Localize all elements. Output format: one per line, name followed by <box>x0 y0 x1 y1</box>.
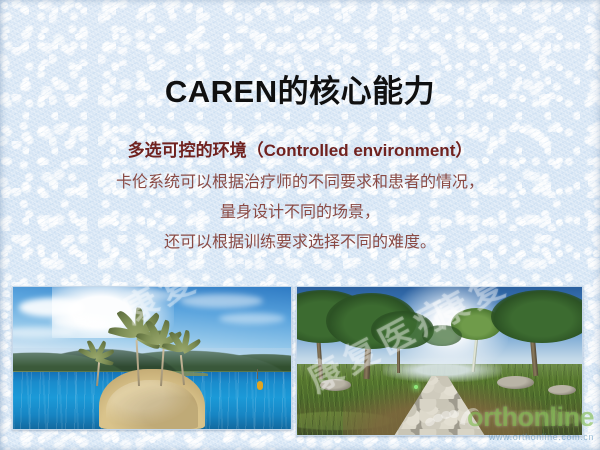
island-cloud <box>124 290 185 300</box>
island-sand-mound <box>99 369 205 429</box>
scene-image-tropical-island <box>12 286 292 430</box>
island-buoy <box>257 381 263 390</box>
forest-rock <box>548 385 577 395</box>
slide-canvas: CAREN的核心能力 多选可控的环境（Controlled environmen… <box>0 0 600 450</box>
island-cloud <box>52 315 108 328</box>
body-line-2: 量身设计不同的场景， <box>0 198 600 228</box>
slide-subtitle: 多选可控的环境（Controlled environment） <box>0 136 600 161</box>
island-cloud <box>219 313 286 324</box>
scene-image-forest-path <box>296 286 583 436</box>
forest-path-scene <box>297 287 582 435</box>
forest-rock <box>497 376 534 389</box>
body-line-1: 卡伦系统可以根据治疗师的不同要求和患者的情况， <box>0 168 600 198</box>
island-marker-post <box>257 369 258 379</box>
forest-light-particle <box>414 385 418 389</box>
forest-rock <box>320 379 351 391</box>
body-line-3: 还可以根据训练要求选择不同的难度。 <box>0 228 600 258</box>
island-cloud <box>19 298 86 316</box>
slide-title: CAREN的核心能力 <box>0 66 600 111</box>
slide-body: 卡伦系统可以根据治疗师的不同要求和患者的情况， 量身设计不同的场景， 还可以根据… <box>0 168 600 258</box>
tropical-island-scene <box>13 287 291 429</box>
